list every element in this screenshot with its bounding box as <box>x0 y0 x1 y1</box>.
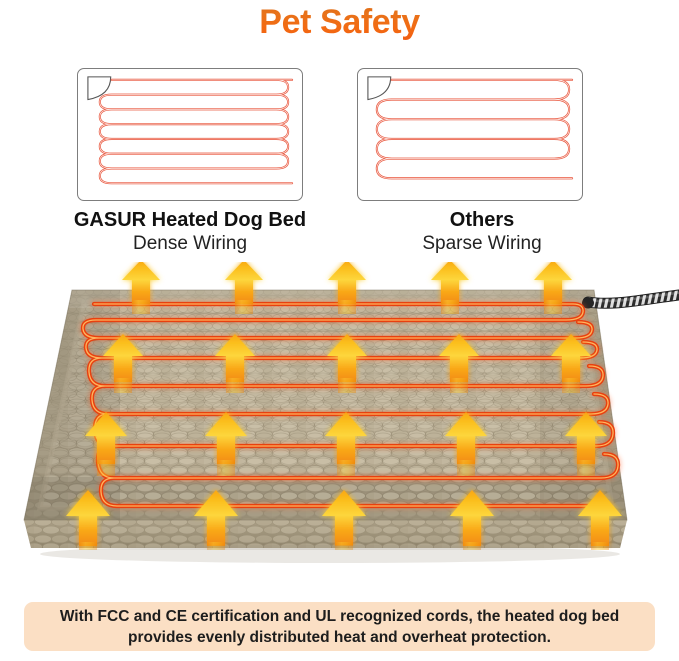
others-wiring-label: Sparse Wiring <box>332 232 632 256</box>
comparison-labels: GASUR Heated Dog Bed Dense Wiring Others… <box>0 208 679 260</box>
page-fold-icon <box>368 77 391 100</box>
mat-front-edge-texture <box>24 520 627 548</box>
label-group-others: Others Sparse Wiring <box>332 208 632 256</box>
page-title: Pet Safety <box>0 0 679 46</box>
wiring-comparison-diagram <box>0 63 679 208</box>
sparse-wire-path <box>377 80 572 178</box>
gasur-wiring-label: Dense Wiring <box>40 232 340 256</box>
gasur-product-name: GASUR Heated Dog Bed <box>40 208 340 232</box>
certification-caption-text: With FCC and CE certification and UL rec… <box>24 606 655 648</box>
others-product-name: Others <box>332 208 632 232</box>
dense-wiring-box <box>77 68 303 201</box>
sparse-wire-core <box>377 80 572 178</box>
sparse-wiring-box <box>357 68 583 201</box>
page-fold-icon <box>88 77 111 100</box>
infographic-page: Pet Safety Pet Safety GA <box>0 0 679 661</box>
mat-contact-shadow <box>40 545 620 563</box>
label-group-gasur: GASUR Heated Dog Bed Dense Wiring <box>40 208 340 256</box>
dense-wiring-svg <box>78 69 302 200</box>
sparse-wiring-svg <box>358 69 582 200</box>
power-cord <box>582 293 679 309</box>
heated-mat-illustration <box>0 262 679 594</box>
dense-wire-path <box>100 80 292 183</box>
mat-svg <box>0 262 679 594</box>
page-title-wrapper: Pet Safety Pet Safety <box>0 0 679 46</box>
certification-caption-box: With FCC and CE certification and UL rec… <box>24 602 655 651</box>
